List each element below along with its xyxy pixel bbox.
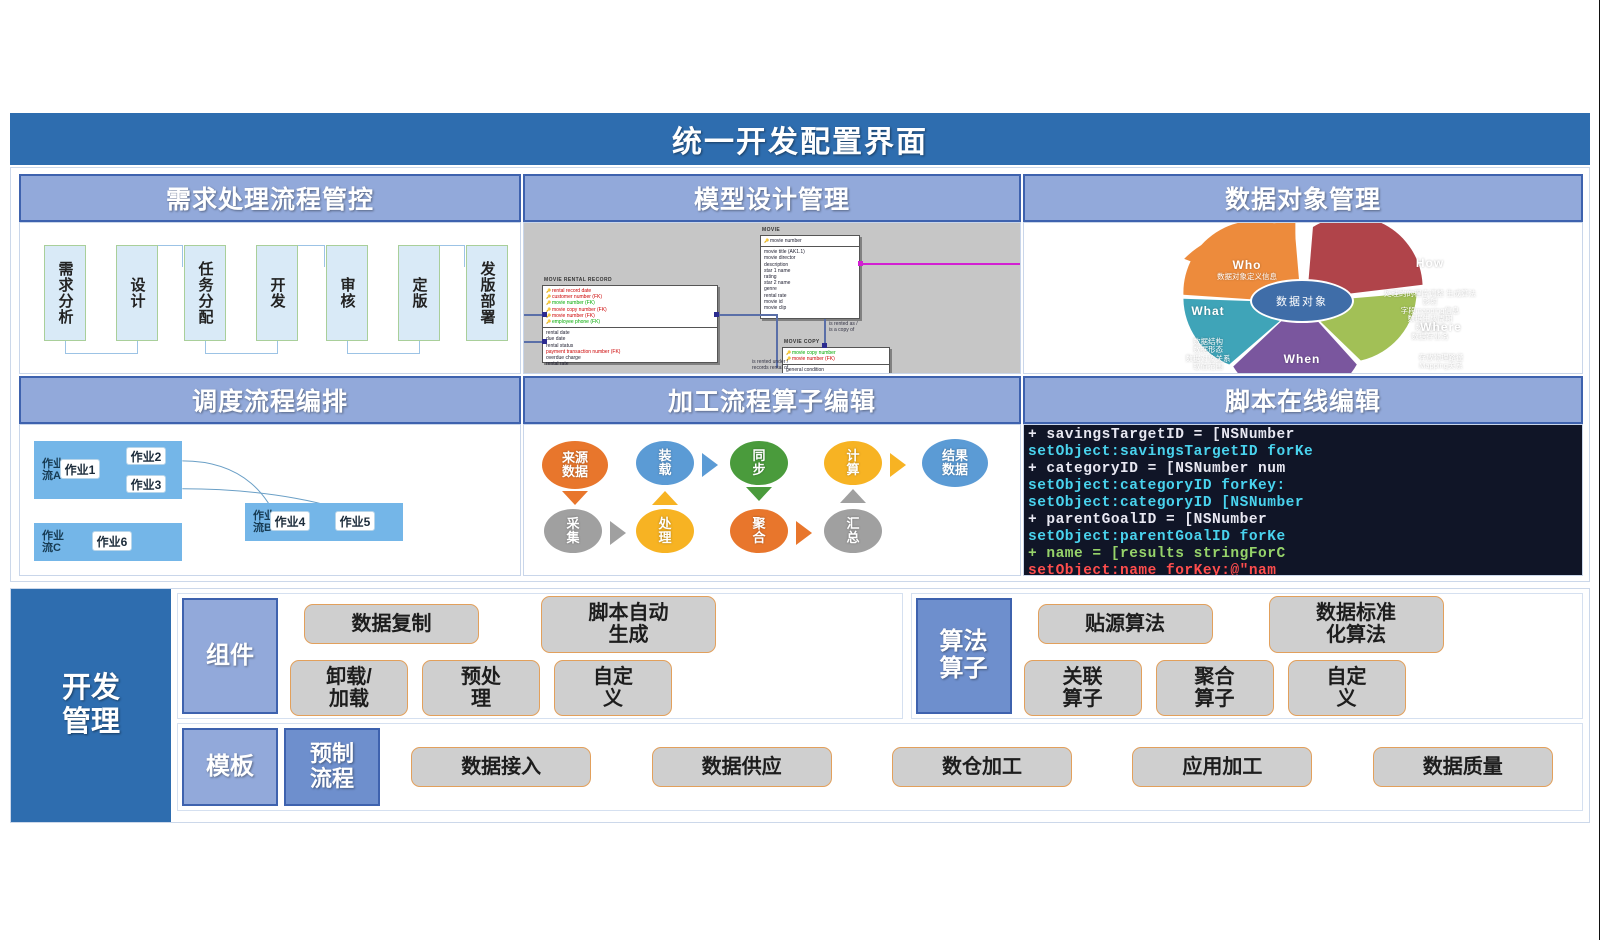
panel-data-object-title: 数据对象管理	[1225, 180, 1381, 216]
component-chip[interactable]: 脚本自动 生成	[541, 596, 716, 653]
chip-row: 数据复制 脚本自动 生成	[290, 596, 892, 653]
operator-flow-diagram: 来源 数据 采 集 处 理 装 载 同 步 聚 合 汇 总 计 算	[524, 425, 1020, 575]
er-attr: rental rate	[546, 361, 714, 367]
er-entity[interactable]: MOVIE RENTAL RECORD rental record date c…	[542, 285, 718, 363]
algorithm-chip[interactable]: 聚合 算子	[1156, 660, 1274, 717]
er-relationship-line	[716, 314, 778, 316]
er-entity-name: MOVIE	[762, 227, 780, 233]
arrow-up-icon	[840, 489, 866, 503]
er-entity-attrs: general condition movie format	[783, 365, 889, 374]
arrow-down-icon	[746, 487, 772, 501]
dev-category-template[interactable]: 模板	[182, 728, 278, 806]
dev-management-title: 开发 管理	[62, 672, 120, 739]
er-relationship-endpoint	[542, 339, 547, 344]
dev-group-component: 组件 数据复制 脚本自动 生成 卸载/ 加载 预处 理 自定 义	[177, 593, 903, 719]
code-editor[interactable]: + savingsTargetID = [NSNumber setObject:…	[1024, 425, 1582, 575]
schedule-job[interactable]: 作业4	[270, 511, 310, 531]
requirement-step-label: 开发	[267, 277, 288, 309]
operator-node-collect[interactable]: 采 集	[544, 509, 602, 553]
er-relationship-label: is rented as / is a copy of	[829, 321, 858, 333]
panel-schedule-header[interactable]: 调度流程编排	[19, 376, 521, 424]
schedule-job[interactable]: 作业6	[92, 531, 132, 551]
requirement-step[interactable]: 设计	[116, 245, 158, 341]
flow-connector	[65, 353, 137, 354]
code-line: + name = [results stringForC	[1028, 546, 1582, 563]
flow-connector	[205, 353, 277, 354]
arrow-right-icon	[610, 521, 626, 545]
panel-data-object-header[interactable]: 数据对象管理	[1023, 174, 1583, 222]
code-line: + categoryID = [NSNumber num	[1028, 461, 1582, 478]
er-entity-name: MOVIE RENTAL RECORD	[544, 277, 612, 283]
dev-row-templates: 模板 预制 流程 数据接入 数据供应 数仓加工 应用加工 数据质量	[177, 723, 1583, 811]
operator-node-process[interactable]: 处 理	[636, 509, 694, 553]
arrow-right-icon	[796, 521, 812, 545]
dev-management-content: 组件 数据复制 脚本自动 生成 卸载/ 加载 预处 理 自定 义	[171, 589, 1589, 822]
arrow-right-icon	[890, 453, 906, 477]
er-relationship-label: is rented under / records rental of	[752, 359, 788, 371]
requirement-step[interactable]: 需求分析	[44, 245, 86, 341]
panel-model-design-title: 模型设计管理	[694, 180, 850, 216]
schedule-job-label: 作业6	[97, 533, 128, 550]
pie-label-cn: 存放物理路径 Mapping关系	[1376, 354, 1506, 371]
er-entity-keys: movie copy number movie number (FK)	[783, 348, 889, 365]
schedule-job-label: 作业2	[131, 448, 162, 465]
er-entity[interactable]: MOVIE COPY movie copy number movie numbe…	[782, 347, 890, 374]
flow-connector	[324, 245, 325, 267]
er-entity-attrs: movie title (AK1.1) movie director descr…	[761, 247, 859, 313]
er-diagram: MOVIE movie number movie title (AK1.1) m…	[524, 223, 1020, 373]
pie-center-text: 数据对象	[1276, 293, 1328, 309]
schedule-job[interactable]: 作业5	[335, 511, 375, 531]
panel-requirement-header[interactable]: 需求处理流程管控	[19, 174, 521, 222]
er-entity-keys: rental record date customer number (FK) …	[543, 286, 717, 328]
template-chip[interactable]: 数仓加工	[892, 747, 1072, 787]
code-line: + savingsTargetID = [NSNumber	[1028, 427, 1582, 444]
er-entity-name: MOVIE COPY	[784, 339, 820, 345]
code-line: setObject:savingsTargetID forKe	[1028, 444, 1582, 461]
template-chip-list: 数据接入 数据供应 数仓加工 应用加工 数据质量	[386, 728, 1578, 806]
er-relationship-endpoint	[542, 312, 547, 317]
requirement-step[interactable]: 审核	[326, 245, 368, 341]
schedule-job[interactable]: 作业3	[126, 475, 166, 493]
panel-schedule: 调度流程编排 作业 流A 作业1	[19, 376, 521, 576]
right-edge-strip	[1599, 0, 1611, 940]
schedule-job[interactable]: 作业2	[126, 447, 166, 465]
panel-model-design-header[interactable]: 模型设计管理	[523, 174, 1021, 222]
schedule-job-label: 作业4	[275, 513, 306, 530]
panel-requirement: 需求处理流程管控	[19, 174, 521, 374]
schedule-job-label: 作业3	[131, 476, 162, 493]
chip-row: 卸载/ 加载 预处 理 自定 义	[290, 660, 892, 717]
flow-connector	[464, 245, 465, 267]
code-line: setObject:categoryID [NSNumber	[1028, 495, 1582, 512]
algorithm-chip[interactable]: 自定 义	[1288, 660, 1406, 717]
er-relationship-endpoint	[822, 343, 827, 348]
requirement-step[interactable]: 任务分配	[184, 245, 226, 341]
code-line: setObject:categoryID forKey:	[1028, 478, 1582, 495]
pie-label-en: Where	[1376, 321, 1506, 335]
data-object-pie-chart: Who 数据对象定义信息 How 处理的的程序调整 生成算法 影射 字段mapp…	[1024, 223, 1582, 373]
requirement-step[interactable]: 发版部署	[466, 245, 508, 341]
pie-label-en: How	[1354, 257, 1506, 271]
schedule-lane-b[interactable]: 作业 流B	[245, 503, 403, 541]
arrow-down-icon	[562, 491, 588, 505]
dev-row-components: 组件 数据复制 脚本自动 生成 卸载/ 加载 预处 理 自定 义	[177, 593, 1583, 719]
schedule-lane-label: 作业 流C	[42, 530, 64, 554]
panel-script: 脚本在线编辑 + savingsTargetID = [NSNumber set…	[1023, 376, 1583, 576]
operator-node-compute[interactable]: 计 算	[824, 441, 882, 485]
dev-group-algorithm: 算法 算子 贴源算法 数据标准 化算法 关联 算子 聚合 算子 自定 义	[911, 593, 1584, 719]
operator-node-summary[interactable]: 汇 总	[824, 509, 882, 553]
requirement-step[interactable]: 开发	[256, 245, 298, 341]
panel-script-header[interactable]: 脚本在线编辑	[1023, 376, 1583, 424]
template-chip[interactable]: 数据接入	[411, 747, 591, 787]
arrow-up-icon	[652, 491, 678, 505]
algorithm-chip[interactable]: 数据标准 化算法	[1269, 596, 1444, 653]
arrow-right-icon	[702, 453, 718, 477]
algorithm-chip[interactable]: 关联 算子	[1024, 660, 1142, 717]
panel-model-design-body: MOVIE movie number movie title (AK1.1) m…	[523, 222, 1021, 374]
flow-connector	[65, 341, 66, 354]
panel-script-title: 脚本在线编辑	[1225, 382, 1381, 418]
dev-management-section: 开发 管理 组件 数据复制 脚本自动 生成 卸载/ 加载 预处 理 自定	[10, 588, 1590, 823]
component-chip-list: 数据复制 脚本自动 生成 卸载/ 加载 预处 理 自定 义	[284, 598, 898, 714]
er-attr: movie number	[764, 238, 856, 244]
diagram-canvas: 统一开发配置界面 需求处理流程管控	[0, 0, 1611, 940]
er-relationship-line	[860, 263, 1021, 265]
panel-schedule-body: 作业 流A 作业1 作业2 作业3 作业 流B 作业4 作业5	[19, 424, 521, 576]
pie-label-en: Who	[1182, 259, 1312, 273]
pie-label-who: Who 数据对象定义信息	[1182, 259, 1312, 281]
algorithm-chip[interactable]: 贴源算法	[1038, 604, 1213, 644]
panel-operator: 加工流程算子编辑 来源 数据 采 集 处 理 装 载 同 步 聚 合 汇 总	[523, 376, 1021, 576]
requirement-step-label: 发版部署	[477, 261, 498, 325]
dev-group-template: 模板 预制 流程 数据接入 数据供应 数仓加工 应用加工 数据质量	[177, 723, 1583, 811]
chip-row: 数据接入 数据供应 数仓加工 应用加工 数据质量	[392, 747, 1572, 787]
panel-schedule-title: 调度流程编排	[192, 382, 348, 418]
chip-row: 关联 算子 聚合 算子 自定 义	[1024, 660, 1573, 717]
dev-category-component[interactable]: 组件	[182, 598, 278, 714]
code-line: setObject:name forKey:@"nam	[1028, 563, 1582, 575]
requirement-step-label: 设计	[127, 277, 148, 309]
operator-node-source[interactable]: 来源 数据	[542, 441, 608, 489]
flow-connector	[137, 341, 138, 354]
operator-node-load[interactable]: 装 载	[636, 441, 694, 485]
er-entity-attrs: rental date due date rental status payme…	[543, 328, 717, 369]
schedule-job-label: 作业1	[65, 461, 96, 478]
dev-category-algorithm[interactable]: 算法 算子	[916, 598, 1012, 714]
requirement-step[interactable]: 定版	[398, 245, 440, 341]
er-attr: employee phone (FK)	[546, 319, 714, 325]
panel-data-object-body: Who 数据对象定义信息 How 处理的的程序调整 生成算法 影射 字段mapp…	[1023, 222, 1583, 374]
algorithm-chip-list: 贴源算法 数据标准 化算法 关联 算子 聚合 算子 自定 义	[1018, 598, 1579, 714]
code-line: + parentGoalID = [NSNumber	[1028, 512, 1582, 529]
template-chip[interactable]: 数据质量	[1373, 747, 1553, 787]
er-entity[interactable]: MOVIE movie number movie title (AK1.1) m…	[760, 235, 860, 319]
panel-script-body: + savingsTargetID = [NSNumber setObject:…	[1023, 424, 1583, 576]
main-header-title: 统一开发配置界面	[672, 117, 928, 161]
pie-label-cn: 数据结构 数据形态 数据对象关系 取值范围	[1142, 338, 1274, 373]
schedule-job-label: 作业5	[340, 513, 371, 530]
panel-operator-header[interactable]: 加工流程算子编辑	[523, 376, 1021, 424]
template-chip[interactable]: 应用加工	[1132, 747, 1312, 787]
panel-operator-title: 加工流程算子编辑	[668, 382, 876, 418]
schedule-flow-diagram: 作业 流A 作业1 作业2 作业3 作业 流B 作业4 作业5	[20, 425, 520, 575]
requirement-step-label: 定版	[409, 277, 430, 309]
code-line: setObject:parentGoalID forKe	[1028, 529, 1582, 546]
requirement-step-label: 任务分配	[195, 261, 216, 325]
er-relationship-endpoint	[714, 312, 719, 317]
component-chip[interactable]: 数据复制	[304, 604, 479, 644]
flow-connector	[182, 245, 183, 267]
requirement-step-label: 需求分析	[55, 261, 76, 325]
component-chip[interactable]: 自定 义	[554, 660, 672, 717]
er-relationship-endpoint	[858, 261, 863, 266]
chip-row: 贴源算法 数据标准 化算法	[1024, 596, 1573, 653]
panel-operator-body: 来源 数据 采 集 处 理 装 载 同 步 聚 合 汇 总 计 算	[523, 424, 1021, 576]
er-entity-keys: movie number	[761, 236, 859, 247]
template-chip[interactable]: 数据供应	[652, 747, 832, 787]
operator-node-aggregate[interactable]: 聚 合	[730, 509, 788, 553]
feature-grid: 需求处理流程管控	[10, 167, 1590, 582]
flow-connector	[205, 341, 206, 354]
operator-node-sync[interactable]: 同 步	[730, 441, 788, 485]
pie-label-where: Where 存放物理路径 Mapping关系	[1376, 303, 1506, 374]
flow-connector	[419, 341, 420, 354]
flow-connector	[347, 341, 348, 354]
dev-subcategory-preset-flow[interactable]: 预制 流程	[284, 728, 380, 806]
component-chip[interactable]: 预处 理	[422, 660, 540, 717]
panel-requirement-title: 需求处理流程管控	[166, 180, 374, 216]
panel-requirement-body: 需求分析 设计 任务分配 开发 审核 定版 发版部署	[19, 222, 521, 374]
er-attr: movie clip	[764, 305, 856, 311]
panel-model-design: 模型设计管理 MOVIE movie number movie title (A…	[523, 174, 1021, 374]
panel-data-object: 数据对象管理	[1023, 174, 1583, 374]
requirement-step-label: 审核	[337, 277, 358, 309]
flow-connector	[347, 353, 419, 354]
flow-connector	[277, 341, 278, 354]
er-attr: movie number (FK)	[786, 356, 886, 362]
dev-management-sidebar[interactable]: 开发 管理	[11, 589, 171, 822]
component-chip[interactable]: 卸载/ 加载	[290, 660, 408, 717]
pie-center-label: 数据对象	[1250, 279, 1354, 323]
requirement-flow-diagram: 需求分析 设计 任务分配 开发 审核 定版 发版部署	[20, 223, 520, 373]
main-header-banner: 统一开发配置界面	[10, 113, 1590, 165]
operator-node-result[interactable]: 结果 数据	[922, 439, 988, 487]
schedule-job[interactable]: 作业1	[60, 459, 100, 479]
